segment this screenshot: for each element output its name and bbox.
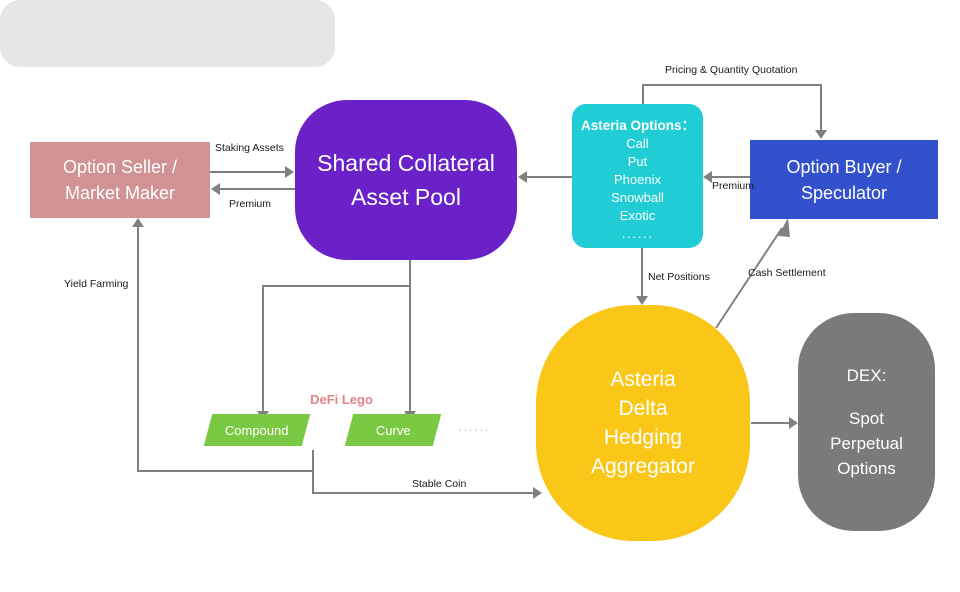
node-option-buyer-line1: Option Buyer / [786,154,901,180]
edge-pricing-arrowhead [815,130,827,139]
node-asteria-options-item-snowball: Snowball [611,189,664,207]
edge-yield-farming-vert [137,226,139,471]
node-asteria-options-more: ······ [622,228,654,246]
node-shared-collateral-asset-pool[interactable]: Shared Collateral Asset Pool [295,100,517,260]
node-dex-line4: Options [837,456,896,481]
node-dex-line1: DEX: [847,363,887,388]
edge-label-cash-settlement: Cash Settlement [748,267,826,279]
edge-premium-right-arrowhead [703,171,712,183]
edge-label-net-positions: Net Positions [648,271,710,283]
edge-staking-assets-line [210,171,286,173]
chip-compound-label: Compound [225,423,289,438]
edge-staking-assets-arrowhead [285,166,294,178]
edge-pool-branch-horiz [262,285,410,287]
node-dex-line3: Perpetual [830,431,903,456]
node-option-seller-line1: Option Seller / [63,154,177,180]
chip-compound[interactable]: Compound [204,414,311,446]
node-option-buyer-line2: Speculator [801,180,887,206]
node-option-seller[interactable]: Option Seller / Market Maker [30,142,210,218]
edge-options-to-pool-arrowhead [518,171,527,183]
edge-premium-left-line [220,188,296,190]
edge-stable-coin-horiz [312,492,538,494]
node-asteria-options-item-phoenix: Phoenix [614,171,661,189]
node-aggregator-line2: Delta [618,394,667,423]
node-asteria-options-heading: Asteria Options： [572,117,695,135]
node-defi-lego-more: ······ [458,422,490,437]
chip-curve-label: Curve [376,423,411,438]
edge-label-staking-assets: Staking Assets [215,142,284,154]
chip-curve[interactable]: Curve [345,414,442,446]
edge-stable-coin-vert [312,450,314,494]
edge-label-yield-farming: Yield Farming [64,278,128,290]
edge-aggregator-to-dex-line [751,422,791,424]
node-dex[interactable]: DEX: Spot Perpetual Options [798,313,935,531]
node-pool-line1: Shared Collateral [317,146,495,180]
node-asteria-options-item-exotic: Exotic [620,207,655,225]
edge-net-positions-arrowhead [636,296,648,305]
node-pool-line2: Asset Pool [351,180,461,214]
edge-label-pricing-quotation: Pricing & Quantity Quotation [665,64,798,76]
node-asteria-options-item-call: Call [626,135,648,153]
diagram-canvas: Staking Assets Premium Premium Pricing &… [0,0,960,592]
edge-pricing-seg-up [642,84,644,106]
edge-pricing-seg-down [820,84,822,132]
node-defi-lego-container [0,0,335,67]
node-dex-line2: Spot [849,406,884,431]
edge-pricing-seg-across [642,84,822,86]
edge-stable-coin-arrowhead [533,487,542,499]
edge-options-to-pool-line [527,176,573,178]
node-aggregator-line4: Aggregator [591,452,695,481]
node-asteria-options-item-put: Put [628,153,648,171]
node-asteria-options[interactable]: Asteria Options： Call Put Phoenix Snowba… [572,104,703,248]
node-option-seller-line2: Market Maker [65,180,175,206]
edge-yield-farming-arrowhead [132,218,144,227]
node-option-buyer[interactable]: Option Buyer / Speculator [750,140,938,219]
node-aggregator-line1: Asteria [610,365,675,394]
edge-label-stable-coin: Stable Coin [412,478,466,490]
edge-premium-right-line [712,176,752,178]
edge-label-premium-right: Premium [712,180,754,192]
node-aggregator-line3: Hedging [604,423,682,452]
node-asteria-delta-hedging-aggregator[interactable]: Asteria Delta Hedging Aggregator [536,305,750,541]
edge-premium-left-arrowhead [211,183,220,195]
edge-label-premium-left: Premium [229,198,271,210]
edge-aggregator-to-dex-arrowhead [789,417,798,429]
node-defi-lego-title: DeFi Lego [174,392,509,407]
edge-yield-farming-horiz [137,470,312,472]
edge-net-positions-line [641,248,643,299]
